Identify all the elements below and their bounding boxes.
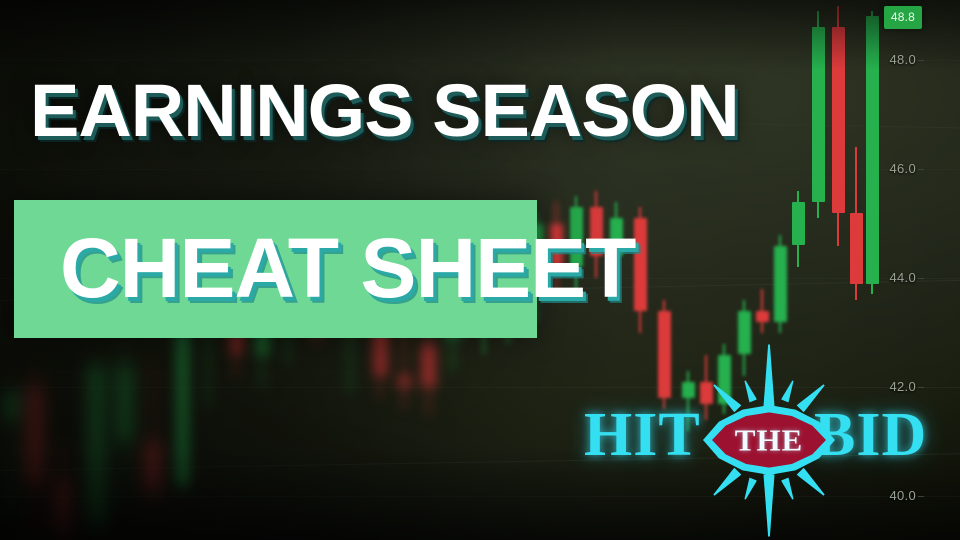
logo-word-hit: HIT: [584, 404, 701, 466]
axis-tick: [918, 278, 924, 279]
starburst-ray-9: [781, 477, 797, 500]
subtitle-banner: CHEAT SHEET: [14, 200, 537, 338]
starburst-ray-0: [764, 344, 775, 406]
candle-body: [832, 27, 845, 213]
candle-body: [850, 213, 863, 284]
brand-logo[interactable]: HIT BID THE: [578, 352, 960, 530]
starburst-ray-7: [781, 379, 797, 402]
price-tick-44.0: 44.0: [889, 270, 916, 285]
starburst-ray-1: [764, 474, 775, 536]
subtitle-text: CHEAT SHEET: [60, 224, 635, 312]
candle-body: [738, 311, 751, 355]
starburst-eye-icon: THE: [694, 356, 844, 524]
logo-word-the: THE: [703, 425, 835, 456]
candle-body: [792, 202, 805, 246]
axis-tick: [918, 60, 924, 61]
price-tick-48.0: 48.0: [889, 52, 916, 67]
axis-tick: [918, 169, 924, 170]
last-price-badge: 48.8: [884, 6, 922, 29]
promo-thumbnail: 48.046.044.042.040.048.8 EARNINGS SEASON…: [0, 0, 960, 540]
candle-body: [774, 246, 787, 322]
page-title: EARNINGS SEASON: [30, 74, 739, 148]
candle-body: [756, 311, 769, 322]
starburst-ray-8: [741, 477, 757, 500]
starburst-ray-6: [741, 379, 757, 402]
candle-body: [812, 27, 825, 202]
eye-lens-shape: THE: [703, 402, 835, 478]
price-tick-46.0: 46.0: [889, 161, 916, 176]
